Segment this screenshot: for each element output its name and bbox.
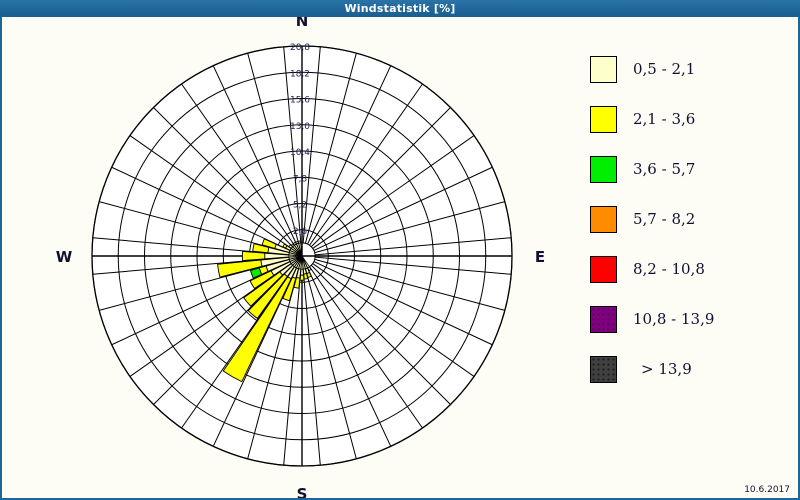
date-stamp: 10.6.2017 xyxy=(744,485,790,495)
radial-tick-label: 20,8 xyxy=(290,43,310,53)
radial-tick-label: 18,2 xyxy=(290,69,310,79)
legend-swatch xyxy=(590,106,617,133)
window-title: Windstatistik [%] xyxy=(344,2,455,15)
legend-label: 5,7 - 8,2 xyxy=(633,210,695,228)
wind-petal-segment xyxy=(300,275,304,280)
compass-label-s: S xyxy=(297,485,308,498)
compass-label-w: W xyxy=(56,248,73,266)
legend-row[interactable]: 0,5 - 2,1 xyxy=(590,44,790,94)
legend-swatch xyxy=(590,206,617,233)
radial-tick-label: 15,6 xyxy=(290,96,310,106)
legend-swatch xyxy=(590,156,617,183)
legend-label: 3,6 - 5,7 xyxy=(633,160,695,178)
legend-row[interactable]: 8,2 - 10,8 xyxy=(590,244,790,294)
legend-row[interactable]: 5,7 - 8,2 xyxy=(590,194,790,244)
legend-row[interactable]: > 13,9 xyxy=(590,344,790,394)
legend: 0,5 - 2,12,1 - 3,63,6 - 5,75,7 - 8,28,2 … xyxy=(590,44,790,394)
legend-label: 2,1 - 3,6 xyxy=(633,110,695,128)
radial-tick-label: 2,6 xyxy=(293,227,308,237)
compass-label-n: N xyxy=(296,17,309,30)
legend-label: 10,8 - 13,9 xyxy=(633,310,714,328)
legend-row[interactable]: 2,1 - 3,6 xyxy=(590,94,790,144)
windstatistik-window: Windstatistik [%] 2,65,27,810,413,015,61… xyxy=(0,0,800,500)
legend-label: 8,2 - 10,8 xyxy=(633,260,705,278)
window-titlebar: Windstatistik [%] xyxy=(0,0,800,17)
client-area: 2,65,27,810,413,015,618,220,8 NESW 0,5 -… xyxy=(0,17,800,500)
radial-tick-label: 7,8 xyxy=(293,174,308,184)
compass-label-e: E xyxy=(535,248,545,266)
legend-label: 0,5 - 2,1 xyxy=(633,60,695,78)
legend-swatch xyxy=(590,306,617,333)
wind-rose-chart: 2,65,27,810,413,015,618,220,8 NESW xyxy=(2,17,568,498)
legend-row[interactable]: 3,6 - 5,7 xyxy=(590,144,790,194)
radial-tick-label: 5,2 xyxy=(293,201,307,211)
legend-label: > 13,9 xyxy=(641,360,692,378)
legend-swatch xyxy=(590,356,617,383)
radial-tick-label: 13,0 xyxy=(290,122,310,132)
legend-swatch xyxy=(590,256,617,283)
radial-tick-label: 10,4 xyxy=(290,148,310,158)
legend-swatch xyxy=(590,56,617,83)
wind-petal-segment xyxy=(304,274,308,280)
legend-row[interactable]: 10,8 - 13,9 xyxy=(590,294,790,344)
wind-petal-segment xyxy=(242,251,264,260)
